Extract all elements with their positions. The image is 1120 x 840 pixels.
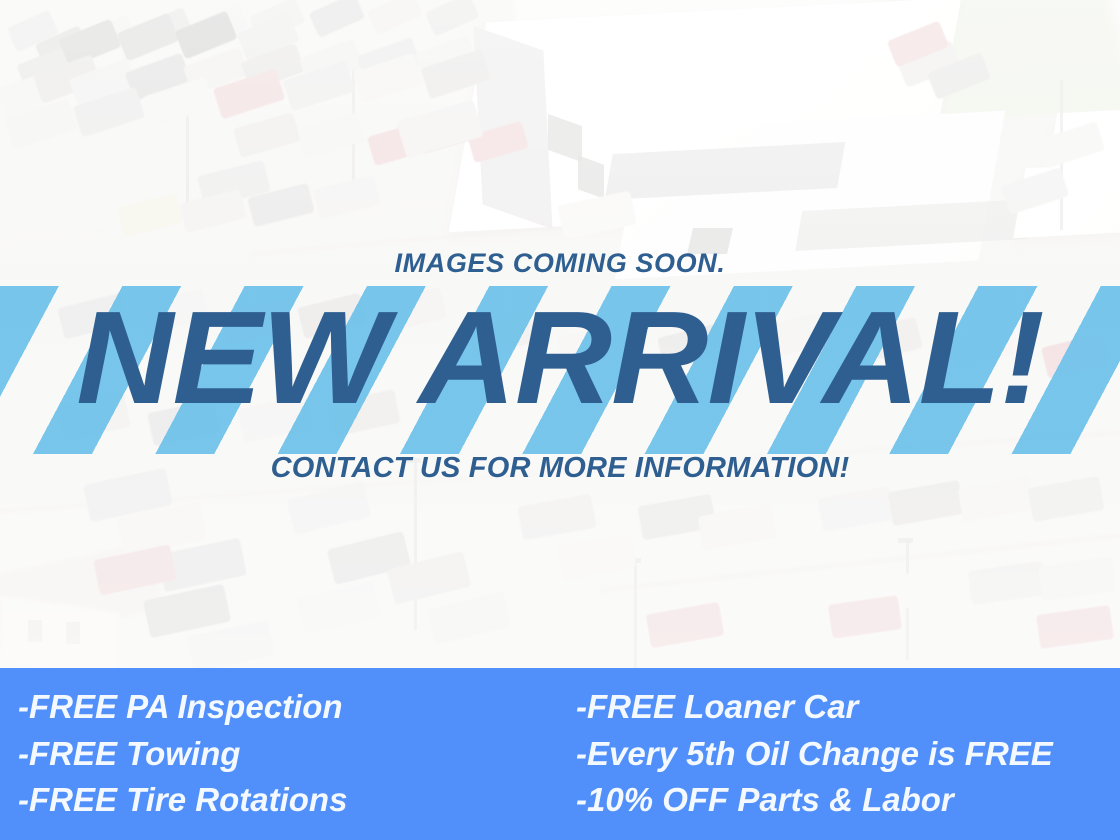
perk-item: -FREE Towing xyxy=(18,731,558,778)
perk-item: -Every 5th Oil Change is FREE xyxy=(576,731,1120,778)
perk-item: -FREE Loaner Car xyxy=(576,684,1120,731)
service-perks-banner: -FREE PA Inspection -FREE Towing -FREE T… xyxy=(0,668,1120,840)
perks-left-column: -FREE PA Inspection -FREE Towing -FREE T… xyxy=(0,684,558,825)
images-coming-soon-text: IMAGES COMING SOON. xyxy=(0,248,1120,279)
new-arrival-placeholder-image: IMAGES COMING SOON. NEW ARRIVAL! CONTACT… xyxy=(0,0,1120,840)
contact-us-text: CONTACT US FOR MORE INFORMATION! xyxy=(0,452,1120,485)
perk-item: -FREE PA Inspection xyxy=(18,684,558,731)
perks-right-column: -FREE Loaner Car -Every 5th Oil Change i… xyxy=(558,684,1120,825)
perk-item: -FREE Tire Rotations xyxy=(18,777,558,824)
new-arrival-headline: NEW ARRIVAL! xyxy=(0,292,1120,424)
perk-item: -10% OFF Parts & Labor xyxy=(576,777,1120,824)
